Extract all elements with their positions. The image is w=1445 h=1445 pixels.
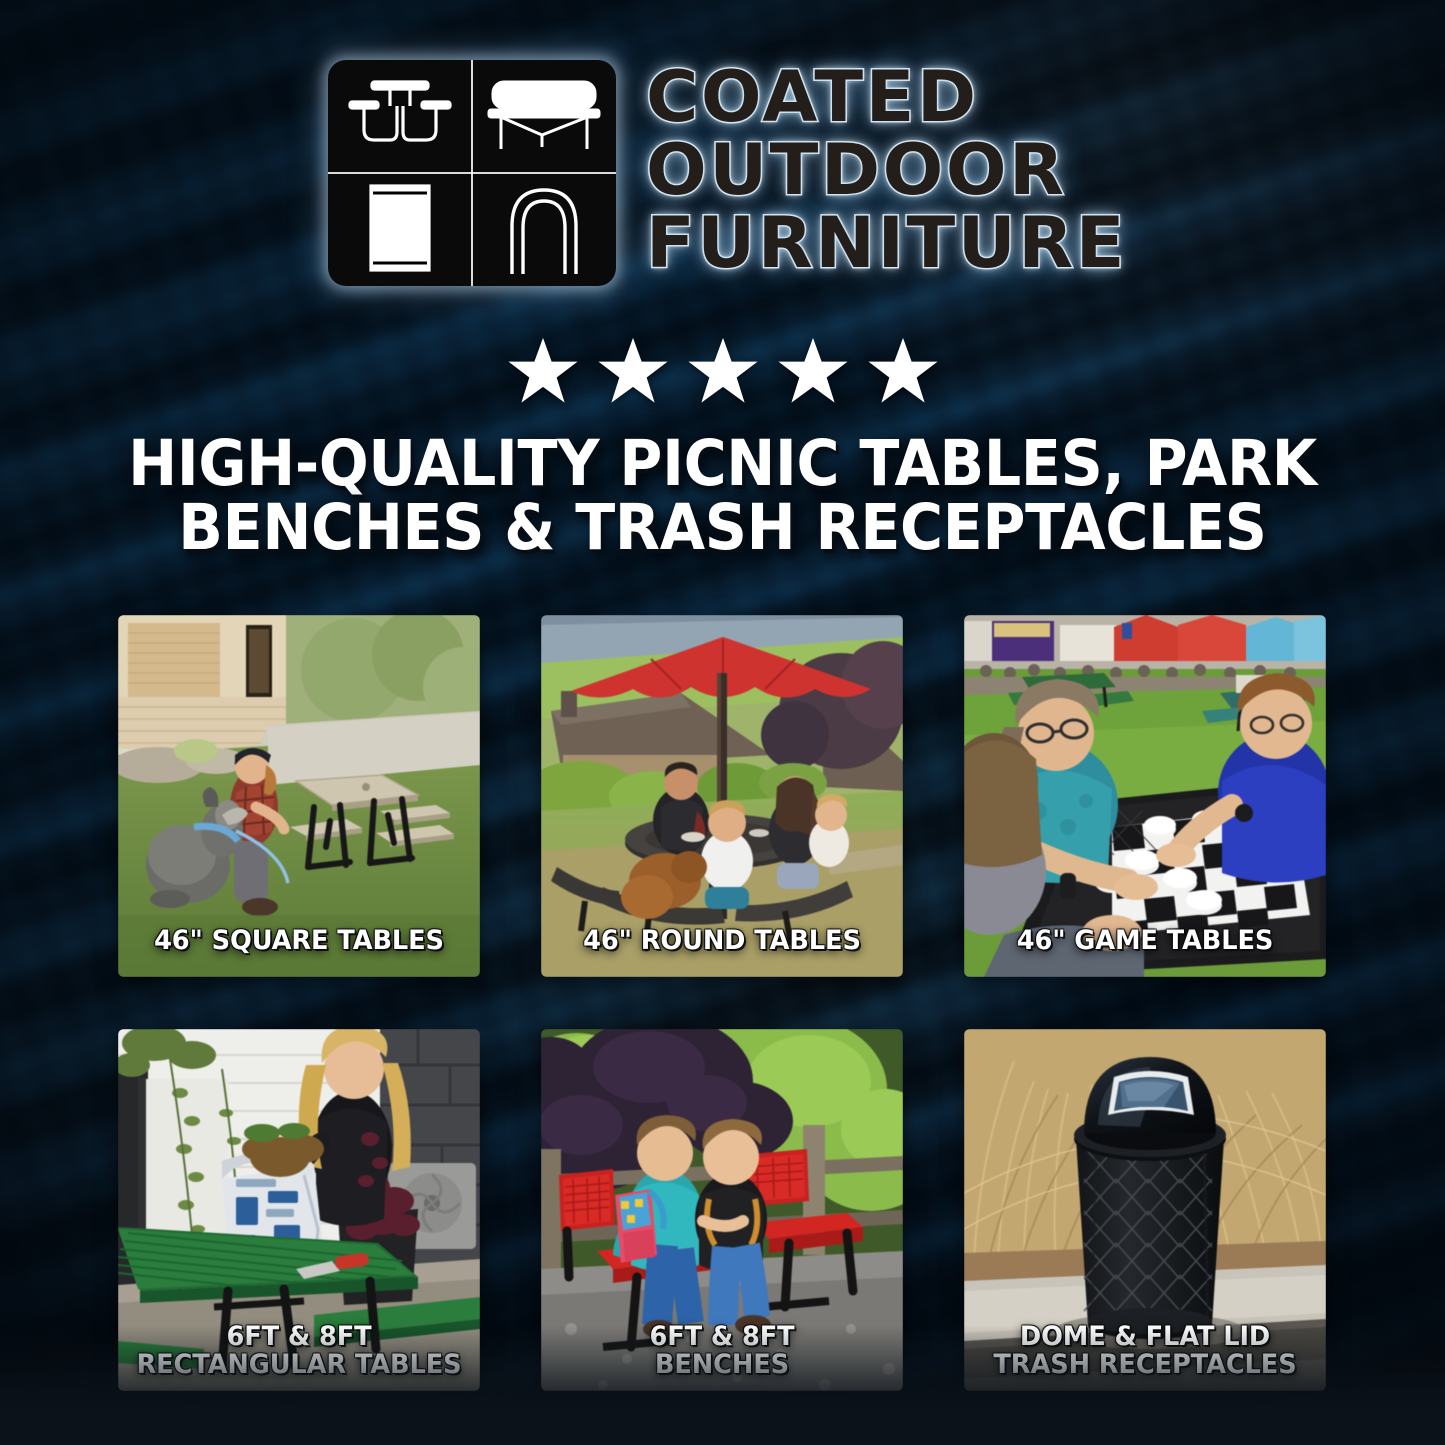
product-photo-square-tables [118, 615, 480, 977]
star-rating [0, 336, 1445, 406]
brand-word-coated: COATED [646, 64, 979, 131]
brand-logo: COATED OUTDOOR FURNITURE [0, 60, 1445, 286]
product-photo-game-tables [964, 615, 1326, 977]
product-card-game-tables[interactable]: 46" GAME TABLES [964, 615, 1326, 977]
product-caption: 46" SQUARE TABLES [133, 927, 466, 955]
star-icon [507, 336, 579, 406]
bottom-fade [0, 1325, 1445, 1445]
product-caption: 46" ROUND TABLES [556, 927, 889, 955]
product-card-round-tables[interactable]: 46" ROUND TABLES [541, 615, 903, 977]
trash-receptacle-icon [328, 173, 472, 286]
brand-word-furniture: FURNITURE [646, 210, 1127, 277]
product-caption: 46" GAME TABLES [979, 927, 1312, 955]
bike-rack-icon [472, 173, 616, 286]
product-photo-round-tables [541, 615, 903, 977]
brand-wordmark: COATED OUTDOOR FURNITURE [646, 60, 1118, 278]
promo-poster: COATED OUTDOOR FURNITURE HIGH-QUALITY PI… [0, 0, 1445, 1445]
logo-icon-grid [328, 60, 616, 286]
brand-word-outdoor: OUTDOOR [646, 137, 1067, 204]
picnic-table-icon [328, 60, 472, 173]
star-icon [687, 336, 759, 406]
product-grid: 46" SQUARE TABLES [118, 615, 1327, 1391]
product-card-square-tables[interactable]: 46" SQUARE TABLES [118, 615, 480, 977]
star-icon [597, 336, 669, 406]
star-icon [777, 336, 849, 406]
star-icon [867, 336, 939, 406]
page-title: HIGH-QUALITY PICNIC TABLES, PARK BENCHES… [106, 432, 1338, 561]
bench-side-icon [472, 60, 616, 173]
